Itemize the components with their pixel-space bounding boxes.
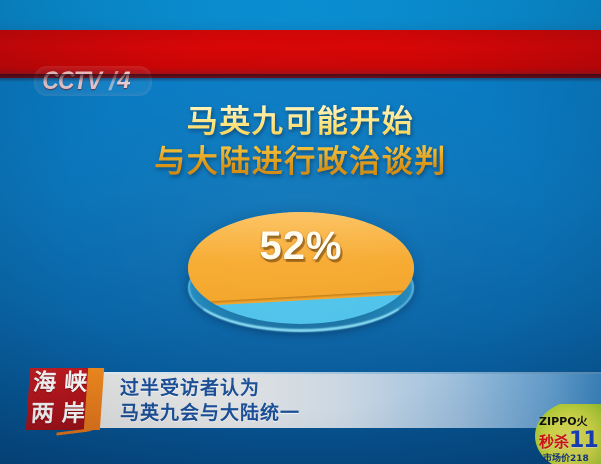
banner-shadow [0,74,601,82]
program-logo-char-3: 两 [30,403,55,426]
pie-percent-label: 52% [182,224,420,269]
ad-price-row: 秒杀11 [539,428,598,453]
program-logo-char-2: 峡 [63,372,88,395]
ad-market-price: 市场价218 [543,451,589,464]
headline-line-2: 与大陆进行政治谈判 [0,142,601,182]
channel-banner: CCTV / 4 [0,30,601,78]
program-logo: 海 峡 两 岸 [26,368,104,430]
banner-text: 过半受访者认为 马英九会与大陆统一 [120,376,300,426]
headline: 马英九可能开始 与大陆进行政治谈判 [0,102,601,183]
headline-line-1: 马英九可能开始 [0,102,601,142]
ad-flashsale-label: 秒杀 [539,433,569,451]
banner-line-1: 过半受访者认为 [120,376,300,401]
tv-broadcast-screen: CCTV / 4 马英九可能开始 与大陆进行政治谈判 52% 过半受访者认为 马… [0,0,601,464]
program-logo-char-1: 海 [32,372,57,395]
ad-overlay[interactable]: ZIPPO火 秒杀11 市场价218 [515,404,601,464]
pie-chart: 52% [182,200,420,345]
top-blue-strip [0,0,601,30]
ad-price-value: 11 [569,428,598,453]
ad-product-text: ZIPPO火 [539,413,588,429]
banner-line-2: 马英九会与大陆统一 [120,401,300,426]
